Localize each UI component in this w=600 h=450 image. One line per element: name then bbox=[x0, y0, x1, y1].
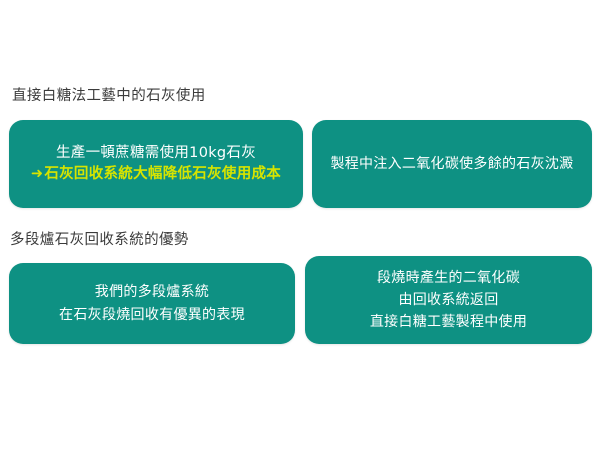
info-box-line-accent-text: 石灰回收系統大幅降低石灰使用成本 bbox=[44, 166, 281, 182]
info-box-co2-recycling: 段燒時產生的二氧化碳 由回收系統返回 直接白糖工藝製程中使用 bbox=[305, 256, 592, 344]
info-box-line: 由回收系統返回 bbox=[398, 289, 498, 311]
section-heading-lime-usage: 直接白糖法工藝中的石灰使用 bbox=[12, 87, 206, 105]
info-box-co2-injection: 製程中注入二氧化碳使多餘的石灰沈澱 bbox=[312, 120, 592, 208]
info-box-line: 生產一頓蔗糖需使用10kg石灰 bbox=[56, 143, 256, 164]
info-box-line: 製程中注入二氧化碳使多餘的石灰沈澱 bbox=[330, 154, 573, 175]
section-heading-msf-advantages: 多段爐石灰回收系統的優勢 bbox=[10, 231, 189, 249]
info-box-line: 在石灰段燒回收有優異的表現 bbox=[59, 304, 245, 327]
info-box-line-accent: ➜石灰回收系統大幅降低石灰使用成本 bbox=[31, 164, 281, 185]
info-box-msf-performance: 我們的多段爐系統 在石灰段燒回收有優異的表現 bbox=[9, 263, 295, 344]
arrow-right-icon: ➜ bbox=[31, 164, 43, 185]
info-box-line: 我們的多段爐系統 bbox=[95, 281, 209, 304]
info-box-lime-consumption: 生產一頓蔗糖需使用10kg石灰 ➜石灰回收系統大幅降低石灰使用成本 bbox=[9, 120, 303, 208]
slide-canvas: 直接白糖法工藝中的石灰使用 生產一頓蔗糖需使用10kg石灰 ➜石灰回收系統大幅降… bbox=[0, 0, 600, 450]
info-box-line: 段燒時產生的二氧化碳 bbox=[377, 267, 520, 289]
info-box-line: 直接白糖工藝製程中使用 bbox=[370, 311, 527, 333]
